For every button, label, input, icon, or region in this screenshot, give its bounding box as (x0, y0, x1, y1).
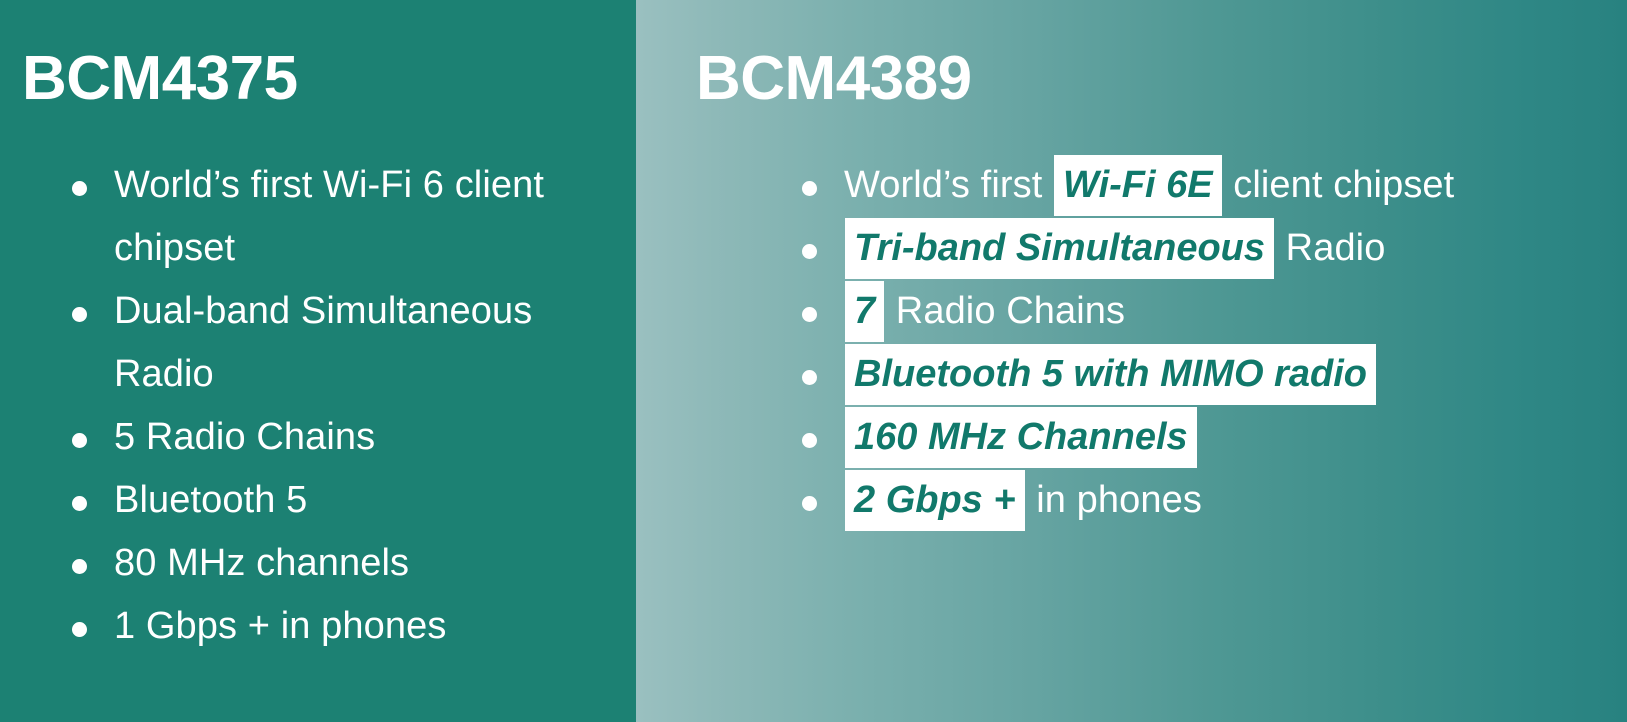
feature-list-bcm4389: World’s first Wi-Fi 6E client chipsetTri… (786, 154, 1616, 532)
bullet-text: client chipset (1223, 164, 1455, 206)
feature-bullet: 5 Radio Chains (56, 406, 626, 469)
feature-bullet: Dual-band Simultaneous Radio (56, 280, 626, 406)
highlighted-spec: 2 Gbps + (845, 470, 1025, 531)
bullet-text: 5 Radio Chains (114, 416, 375, 458)
feature-bullet: Tri-band Simultaneous Radio (786, 217, 1616, 280)
bullet-text: World’s first Wi-Fi 6 client chipset (114, 164, 544, 269)
feature-bullet: 160 MHz Channels (786, 406, 1616, 469)
bullet-text: 1 Gbps + in phones (114, 605, 446, 647)
bullet-text: Radio (1275, 227, 1385, 269)
bullet-text: in phones (1026, 479, 1202, 521)
highlighted-spec: Wi-Fi 6E (1054, 155, 1222, 216)
feature-bullet: 2 Gbps + in phones (786, 469, 1616, 532)
panel-bcm4389: BCM4389 World’s first Wi-Fi 6E client ch… (636, 0, 1627, 722)
panel-title-bcm4389: BCM4389 (696, 48, 972, 110)
feature-bullet: 1 Gbps + in phones (56, 595, 626, 658)
bullet-text: Bluetooth 5 (114, 479, 307, 521)
highlighted-spec: 160 MHz Channels (845, 407, 1197, 468)
feature-list-bcm4375: World’s first Wi-Fi 6 client chipsetDual… (56, 154, 626, 658)
bullet-text: Dual-band Simultaneous Radio (114, 290, 532, 395)
panel-title-bcm4375: BCM4375 (22, 48, 298, 110)
panel-bcm4375: BCM4375 World’s first Wi-Fi 6 client chi… (0, 0, 636, 722)
feature-bullet: World’s first Wi-Fi 6 client chipset (56, 154, 626, 280)
feature-bullet: World’s first Wi-Fi 6E client chipset (786, 154, 1616, 217)
highlighted-spec: Tri-band Simultaneous (845, 218, 1274, 279)
bullet-text: 80 MHz channels (114, 542, 409, 584)
highlighted-spec: Bluetooth 5 with MIMO radio (845, 344, 1376, 405)
feature-bullet: Bluetooth 5 (56, 469, 626, 532)
feature-bullet: 7 Radio Chains (786, 280, 1616, 343)
highlighted-spec: 7 (845, 281, 884, 342)
feature-bullet: Bluetooth 5 with MIMO radio (786, 343, 1616, 406)
comparison-slide: BCM4375 World’s first Wi-Fi 6 client chi… (0, 0, 1627, 722)
feature-bullet: 80 MHz channels (56, 532, 626, 595)
bullet-text: World’s first (844, 164, 1053, 206)
bullet-text: Radio Chains (885, 290, 1125, 332)
